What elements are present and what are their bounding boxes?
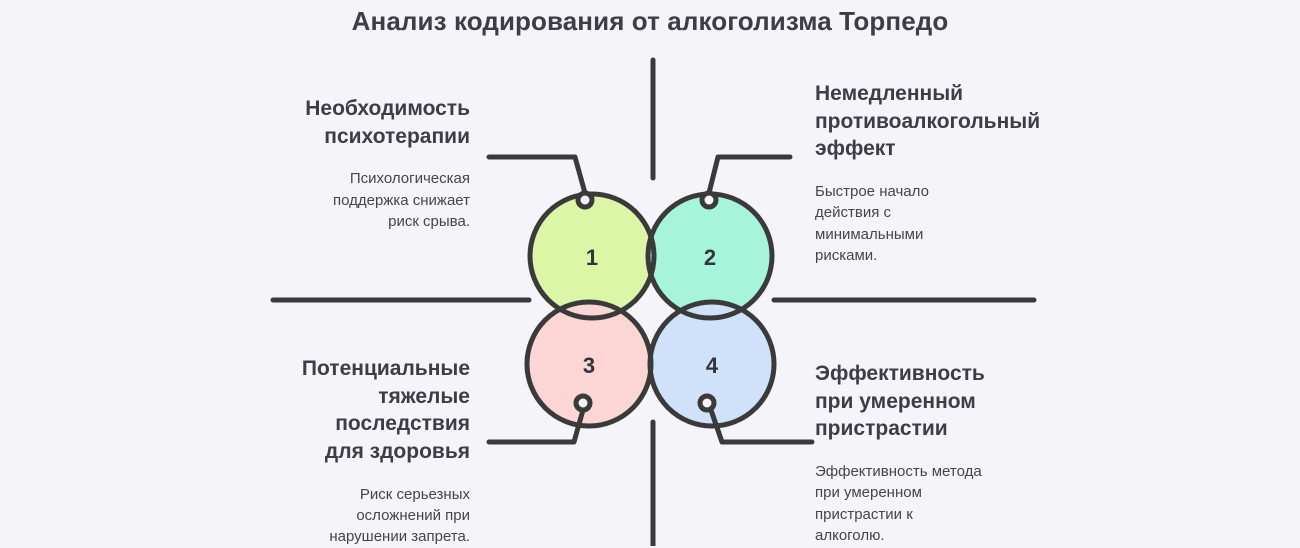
quadrant-heading-1: Необходимость психотерапии xyxy=(180,95,470,150)
leader-line-4 xyxy=(711,410,812,442)
quadrant-body-2: Быстрое начало действия с минимальными р… xyxy=(815,181,1085,266)
circle-outline-4[interactable] xyxy=(650,302,774,426)
quadrant-heading-2: Немедленный противоалкогольный эффект xyxy=(815,80,1085,163)
circle-outline-3[interactable] xyxy=(527,302,651,426)
circle-number-4: 4 xyxy=(706,353,719,378)
quadrant-body-4: Эффективность метода при умеренном прист… xyxy=(815,461,1075,546)
connector-ring-3 xyxy=(576,396,590,410)
quadrant-body-3: Риск серьезных осложнений при нарушении … xyxy=(180,484,470,548)
connector-ring-4 xyxy=(700,396,714,410)
leader-line-3 xyxy=(489,410,583,442)
quadrant-heading-4: Эффективность при умеренном пристрастии xyxy=(815,360,1075,443)
quadrant-heading-3: Потенциальные тяжелые последствия для зд… xyxy=(180,355,470,466)
leader-line-2 xyxy=(709,157,790,193)
circle-4-fill xyxy=(651,303,778,430)
circle-outline-1[interactable] xyxy=(530,194,654,318)
leader-line-1 xyxy=(489,157,585,193)
circle-2-fill xyxy=(649,195,775,322)
quadrant-body-1: Психологическая поддержка снижает риск с… xyxy=(180,168,470,232)
circle-3-fill xyxy=(525,304,650,430)
diagram-canvas: Анализ кодирования от алкоголизма Торпед… xyxy=(0,0,1300,546)
quadrant-block-bottom-right: Эффективность при умеренном пристрастии … xyxy=(815,360,1075,546)
circle-number-3: 3 xyxy=(583,353,595,378)
quadrant-block-top-right: Немедленный противоалкогольный эффект Бы… xyxy=(815,80,1085,266)
circle-outline-2[interactable] xyxy=(648,194,772,318)
circle-number-1: 1 xyxy=(586,245,598,270)
connector-leaders xyxy=(489,157,812,442)
quadrant-block-bottom-left: Потенциальные тяжелые последствия для зд… xyxy=(180,355,470,548)
connector-ring-2 xyxy=(702,193,716,207)
circle-number-2: 2 xyxy=(704,245,716,270)
quadrant-block-top-left: Необходимость психотерапии Психологическ… xyxy=(180,95,470,232)
connector-ring-1 xyxy=(578,193,592,207)
page-title: Анализ кодирования от алкоголизма Торпед… xyxy=(0,6,1300,37)
circle-1-fill xyxy=(531,196,658,321)
